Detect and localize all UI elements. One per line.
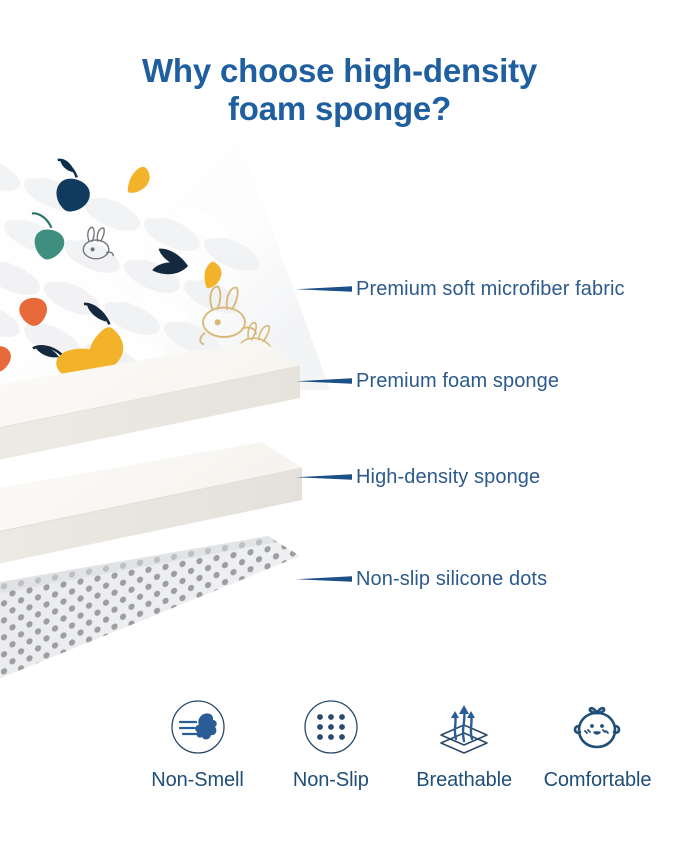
feature-non-slip: Non-Slip <box>268 697 393 792</box>
feature-label-breathable: Breathable <box>416 769 512 792</box>
callout-label-foam-sponge: Premium foam sponge <box>356 370 559 393</box>
callout-label-silicone-dots: Non-slip silicone dots <box>356 568 547 591</box>
page-title: Why choose high-density foam sponge? <box>0 52 679 129</box>
baby-face-icon <box>567 697 627 757</box>
layer-silicone-dot-sheet <box>0 532 345 707</box>
airflow-layers-icon <box>434 697 494 757</box>
odor-free-icon <box>168 697 228 757</box>
callout-silicone-dots: Non-slip silicone dots <box>296 566 547 592</box>
page-title-line-1: Why choose high-density <box>0 52 679 90</box>
feature-label-non-slip: Non-Slip <box>293 769 369 792</box>
leader-line-icon <box>296 473 352 481</box>
callout-microfiber: Premium soft microfiber fabric <box>296 276 625 302</box>
callout-foam-sponge: Premium foam sponge <box>296 368 559 394</box>
callout-label-high-density: High-density sponge <box>356 466 540 489</box>
feature-non-smell: Non-Smell <box>135 697 260 792</box>
feature-breathable: Breathable <box>402 697 527 792</box>
leader-line-icon <box>296 377 352 385</box>
mattress-layer-illustration <box>0 150 345 695</box>
feature-label-non-smell: Non-Smell <box>151 769 243 792</box>
page-title-line-2: foam sponge? <box>0 90 679 128</box>
callout-label-microfiber: Premium soft microfiber fabric <box>356 278 625 301</box>
leader-line-icon <box>296 575 352 583</box>
leader-line-icon <box>296 285 352 293</box>
callout-high-density: High-density sponge <box>296 464 540 490</box>
feature-comfortable: Comfortable <box>535 697 660 792</box>
feature-strip: Non-Smell Non-Slip <box>135 697 660 792</box>
dot-grid-icon <box>301 697 361 757</box>
feature-label-comfortable: Comfortable <box>544 769 652 792</box>
